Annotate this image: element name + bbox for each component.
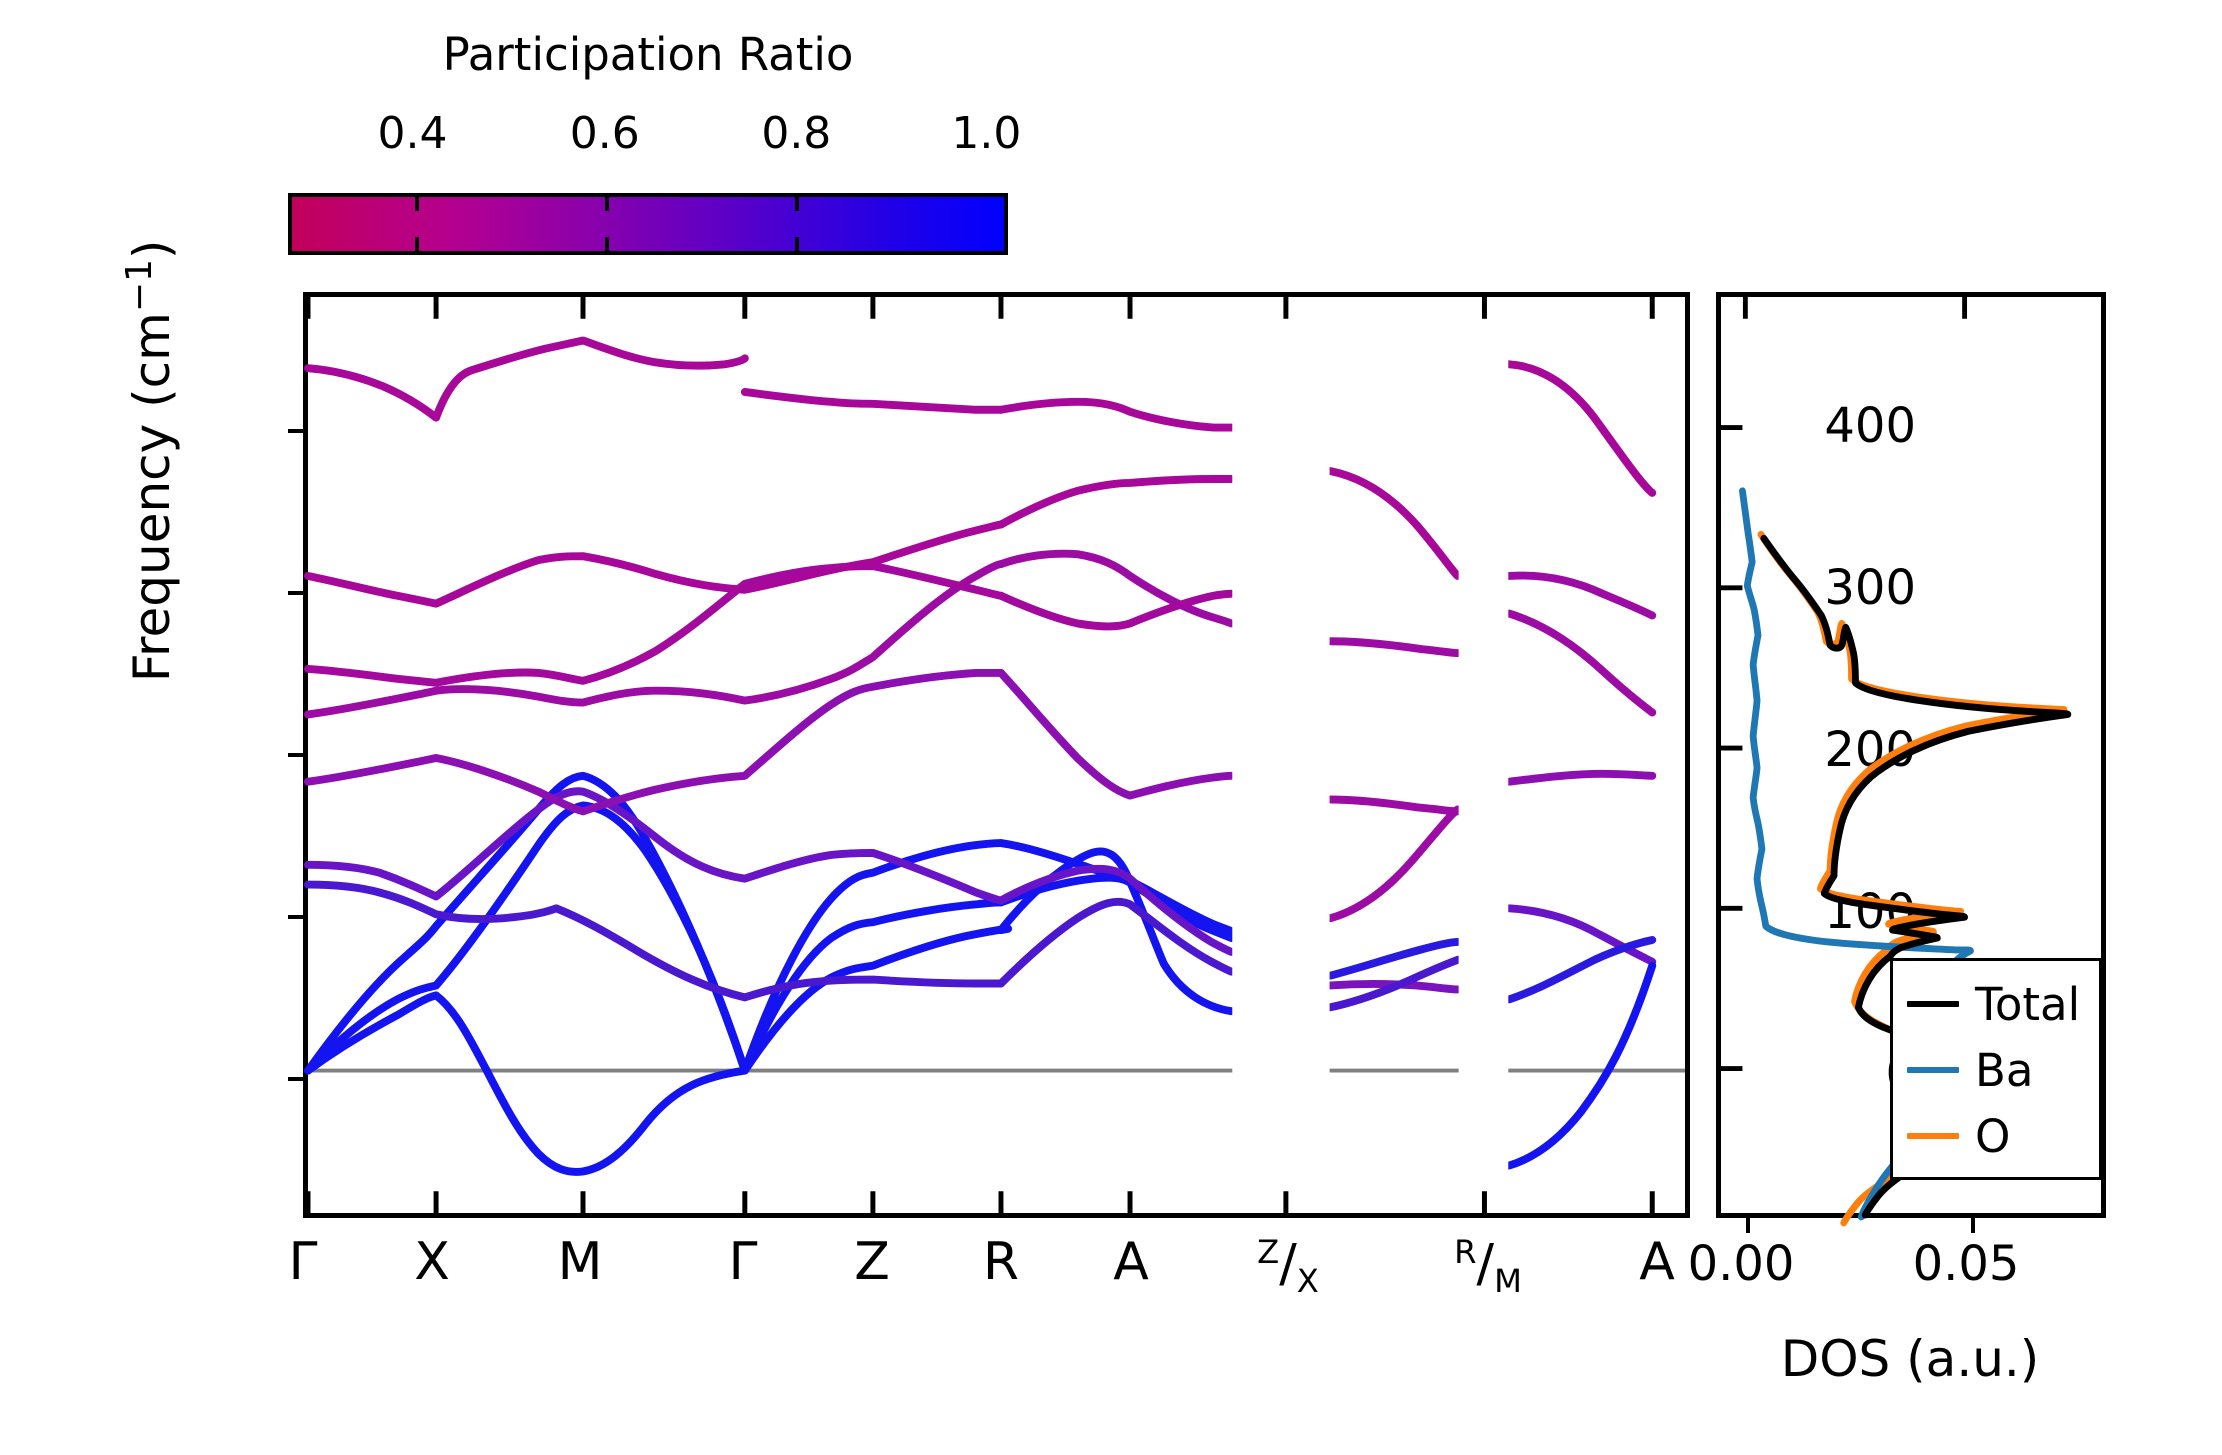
band-branch-9 [308, 525, 1001, 604]
band-branch-4 [308, 885, 1001, 998]
band-seg-rm-1 [1509, 364, 1652, 493]
band-segment-rm [1509, 364, 1652, 1165]
band-structure-plot [308, 297, 1685, 1213]
x-tick-sup: Z [1257, 1233, 1279, 1271]
legend-line-icon-ba [1907, 1067, 1959, 1073]
legend-item-total[interactable]: Total [1893, 971, 2099, 1037]
band-seg-rm-7 [1509, 966, 1652, 1166]
dos-x-tick-mark [1971, 1213, 1975, 1233]
x-tick-marks [308, 297, 1652, 1213]
colorbar-tick [605, 197, 609, 211]
legend-label: O [1975, 1114, 2010, 1159]
colorbar-tick [795, 237, 799, 251]
band-branch-8 [308, 566, 1001, 683]
y-tick-mark [288, 591, 308, 595]
y-axis-label-close: ) [123, 240, 181, 260]
colorbar-tick-labels: 0.4 0.6 0.8 1.0 [288, 112, 1008, 162]
band-seg-zx-4 [1331, 809, 1458, 918]
band-seg-zx-2 [1331, 641, 1458, 653]
colorbar-tick-label: 0.8 [761, 112, 831, 156]
band-seg-rm-3 [1509, 614, 1652, 713]
participation-ratio-colorbar[interactable] [288, 193, 1008, 255]
legend-label: Total [1975, 982, 2080, 1027]
y-axis-label-text: Frequency (cm [123, 312, 181, 682]
dos-x-axis-label: DOS (a.u.) [1700, 1330, 2120, 1388]
band-structure-axes[interactable] [303, 292, 1690, 1218]
x-tick-label-Z-over-X: Z/X [1257, 1236, 1319, 1297]
band-seg-zx-1 [1331, 471, 1458, 576]
band-branch-10b [745, 392, 1001, 410]
band-branch-6b [1001, 673, 1231, 796]
band-branch-10c [1001, 402, 1231, 428]
band-curves [308, 341, 1652, 1172]
band-branch-9b [1001, 479, 1231, 525]
colorbar-tick [605, 237, 609, 251]
band-seg-zx-3 [1331, 800, 1458, 812]
x-tick-label-X: X [414, 1236, 450, 1288]
legend-line-icon-total [1907, 1001, 1959, 1007]
legend-line-icon-o [1907, 1133, 1959, 1139]
colorbar-tick-label: 1.0 [951, 112, 1021, 156]
y-tick-mark [288, 915, 308, 919]
x-tick-label-A-2: A [1639, 1236, 1675, 1288]
colorbar-tick-label: 0.4 [378, 112, 448, 156]
x-tick-sub: M [1494, 1262, 1522, 1300]
band-branch-10 [308, 341, 745, 418]
y-tick-mark [288, 429, 308, 433]
x-tick-label-M: M [558, 1236, 603, 1288]
legend-label: Ba [1975, 1048, 2033, 1093]
band-branch-3 [308, 776, 1001, 1071]
colorbar-gradient [292, 197, 1004, 251]
band-branch-7 [308, 564, 1001, 714]
colorbar-tick-label: 0.6 [570, 112, 640, 156]
band-seg-rm-6 [1509, 940, 1652, 999]
y-axis-label-exponent: −1 [119, 259, 160, 312]
x-tick-sub: X [1297, 1262, 1319, 1300]
x-tick-label-gamma-2: Γ [729, 1236, 758, 1288]
legend-item-ba[interactable]: Ba [1893, 1037, 2099, 1103]
x-tick-label-A-1: A [1113, 1236, 1149, 1288]
y-axis-label: Frequency (cm−1) [119, 141, 181, 781]
x-tick-label-Z: Z [854, 1236, 890, 1288]
x-tick-sup: R [1454, 1233, 1476, 1271]
segment-gap-mask [1232, 297, 1329, 1213]
legend-item-o[interactable]: O [1893, 1103, 2099, 1169]
band-seg-rm-2 [1509, 576, 1652, 616]
colorbar-tick [415, 237, 419, 251]
dos-x-tick-label-1: 0.05 [1913, 1236, 2020, 1292]
x-tick-label-R: R [983, 1236, 1019, 1288]
y-tick-mark [288, 753, 308, 757]
band-seg-rm-5 [1509, 908, 1652, 961]
segment-gap-mask [1459, 297, 1509, 1213]
x-tick-label-gamma-1: Γ [289, 1236, 318, 1288]
band-segment-zx [1331, 471, 1458, 1007]
band-seg-rm-4 [1509, 774, 1652, 782]
phonon-figure: Participation Ratio 0.4 0.6 0.8 1.0 Freq… [0, 0, 2222, 1455]
x-tick-label-R-over-M: R/M [1454, 1236, 1522, 1297]
dos-x-tick-label-0: 0.00 [1688, 1236, 1795, 1292]
dos-x-tick-mark [1746, 1213, 1750, 1233]
band-branch-5 [308, 791, 1001, 900]
dos-legend[interactable]: Total Ba O [1890, 958, 2102, 1180]
colorbar-tick [415, 197, 419, 211]
band-branch-2 [308, 805, 1001, 1070]
colorbar-title: Participation Ratio [288, 32, 1008, 77]
colorbar-tick [795, 197, 799, 211]
y-tick-mark [288, 1077, 308, 1081]
